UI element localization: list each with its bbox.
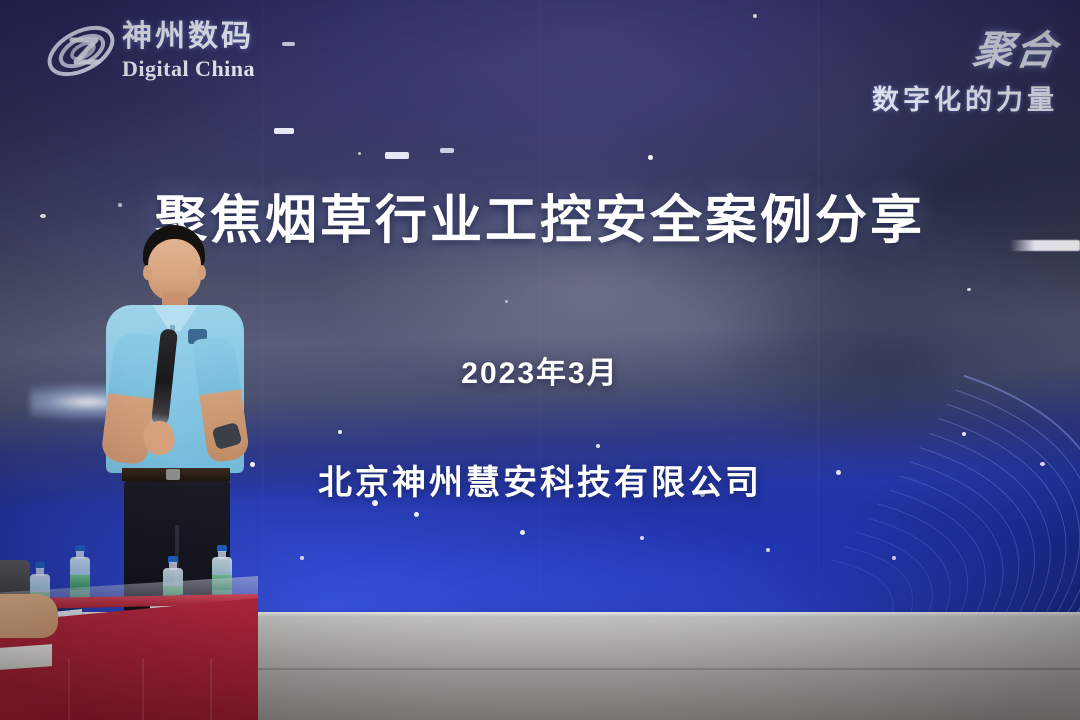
light-particle <box>338 430 342 434</box>
light-particle <box>520 530 525 535</box>
brand-logo-text: 神州数码 Digital China <box>122 22 255 80</box>
light-particle <box>358 152 361 155</box>
tablecloth-fold <box>68 658 70 720</box>
light-particle <box>596 444 600 448</box>
event-tagline: 聚合 数字化的力量 <box>872 18 1058 117</box>
audience-hand <box>0 594 58 638</box>
light-particle <box>640 536 644 540</box>
presenter-belt-buckle <box>166 469 180 480</box>
light-particle <box>440 148 454 153</box>
light-particle <box>282 42 295 46</box>
tablecloth-fold <box>142 658 144 720</box>
light-particle <box>967 288 971 291</box>
screenshot-stage: 神州数码 Digital China 聚合 数字化的力量 聚焦烟草行业工控安全案… <box>0 0 1080 720</box>
panel-table <box>0 560 270 720</box>
digital-china-logo-icon <box>42 20 120 82</box>
light-particle <box>648 155 653 160</box>
tagline-calligraphy: 聚合 <box>868 18 1062 76</box>
tablecloth-fold <box>210 658 212 720</box>
papers-on-table <box>0 644 52 670</box>
brand-name-en: Digital China <box>122 58 255 80</box>
light-particle <box>892 556 896 560</box>
brand-name-cn: 神州数码 <box>122 22 255 52</box>
presenter-ear <box>143 265 152 280</box>
presenter-ear <box>197 265 206 280</box>
presenter-face <box>148 239 201 301</box>
tagline-subtitle: 数字化的力量 <box>872 78 1058 117</box>
light-particle <box>414 512 419 517</box>
light-particle <box>300 556 304 560</box>
light-particle <box>753 14 757 18</box>
light-particle <box>385 152 409 159</box>
light-particle <box>766 548 770 552</box>
light-particle <box>505 300 508 303</box>
light-particle <box>274 128 294 134</box>
